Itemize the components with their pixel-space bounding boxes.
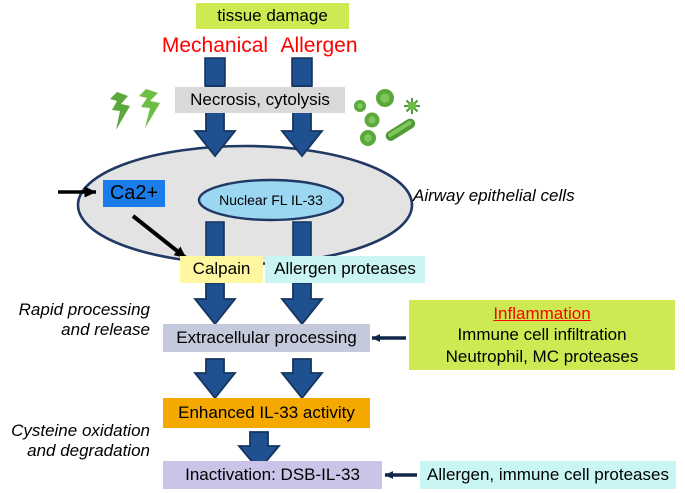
arrow-cell-to-allergen-proteases — [293, 222, 311, 257]
node-allergen-immune-proteases-label: Allergen, immune cell proteases — [427, 465, 669, 485]
node-necrosis-cytolysis-label: Necrosis, cytolysis — [190, 90, 330, 110]
node-inflammation-heading: Inflammation — [493, 303, 590, 324]
lightning-spikes-icon — [110, 89, 160, 130]
node-extracellular-processing-label: Extracellular processing — [176, 328, 356, 348]
node-calcium: Ca2+ — [103, 180, 165, 207]
node-nuclear-fl-il33-label: Nuclear FL IL-33 — [219, 192, 323, 209]
arrow-extracellular-to-enhanced-right — [282, 359, 322, 398]
node-necrosis-cytolysis: Necrosis, cytolysis — [175, 87, 345, 113]
label-rapid-processing-line1: Rapid processing — [4, 300, 150, 320]
node-inactivation-label: Inactivation: DSB-IL-33 — [185, 465, 360, 485]
node-inflammation-box: Inflammation Immune cell infiltration Ne… — [409, 300, 675, 370]
arrow-cell-to-calpain — [206, 222, 224, 257]
label-airway-epithelial-cells-text: Airway epithelial cells — [413, 186, 575, 205]
label-cysteine-line1: Cysteine oxidation — [2, 421, 150, 441]
label-rapid-processing-line2: and release — [4, 320, 150, 340]
arrow-calcium-to-calpain — [133, 216, 186, 258]
node-enhanced-il33-activity: Enhanced IL-33 activity — [163, 398, 370, 428]
pollen-particles-icon — [354, 89, 420, 146]
label-airway-epithelial-cells: Airway epithelial cells — [413, 186, 575, 206]
node-calpain-label: Calpain — [193, 259, 251, 279]
node-nuclear-fl-il33: Nuclear FL IL-33 — [199, 190, 343, 210]
label-rapid-processing: Rapid processing and release — [4, 300, 150, 341]
label-allergen: Allergen — [240, 34, 398, 58]
label-cysteine-oxidation: Cysteine oxidation and degradation — [2, 421, 150, 462]
pathway-diagram: tissue damage Mechanical Allergen Necros… — [0, 0, 685, 493]
node-calcium-label: Ca2+ — [110, 182, 158, 206]
node-inactivation: Inactivation: DSB-IL-33 — [163, 461, 382, 489]
node-inflammation-line1: Immune cell infiltration — [457, 324, 626, 345]
node-allergen-proteases: Allergen proteases — [265, 256, 425, 283]
node-inflammation-line2: Neutrophil, MC proteases — [446, 346, 639, 367]
label-allergen-text: Allergen — [280, 34, 357, 57]
arrow-extracellular-to-enhanced-left — [195, 359, 235, 398]
node-allergen-immune-proteases: Allergen, immune cell proteases — [420, 461, 676, 489]
arrow-calpain-to-extracellular — [195, 283, 235, 324]
node-calpain: Calpain — [180, 256, 263, 283]
arrow-proteases-to-extracellular — [282, 283, 322, 324]
node-enhanced-il33-activity-label: Enhanced IL-33 activity — [178, 403, 355, 423]
node-tissue-damage-label: tissue damage — [217, 6, 328, 26]
label-cysteine-line2: and degradation — [2, 441, 150, 461]
arrow-mechanical-to-necrosis — [205, 58, 225, 86]
node-extracellular-processing: Extracellular processing — [163, 324, 370, 352]
node-allergen-proteases-label: Allergen proteases — [274, 259, 416, 279]
node-tissue-damage: tissue damage — [196, 3, 349, 29]
arrow-allergen-to-necrosis — [292, 58, 312, 86]
